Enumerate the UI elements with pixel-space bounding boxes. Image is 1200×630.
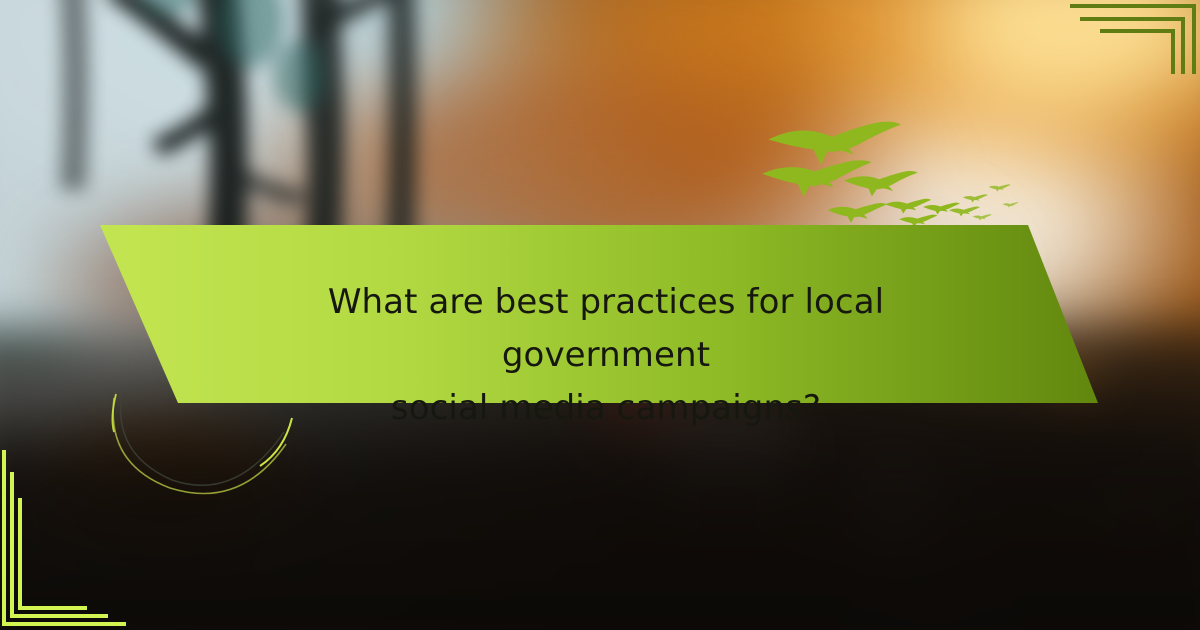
background-tree-trunks-icon	[0, 0, 500, 280]
corner-brackets-top-right-icon	[1070, 0, 1200, 74]
bird-flock-icon	[756, 118, 1024, 230]
page-title: What are best practices for local govern…	[226, 276, 986, 435]
corner-brackets-bottom-left-icon	[0, 430, 130, 630]
share-graphic-canvas: What are best practices for local govern…	[0, 0, 1200, 630]
